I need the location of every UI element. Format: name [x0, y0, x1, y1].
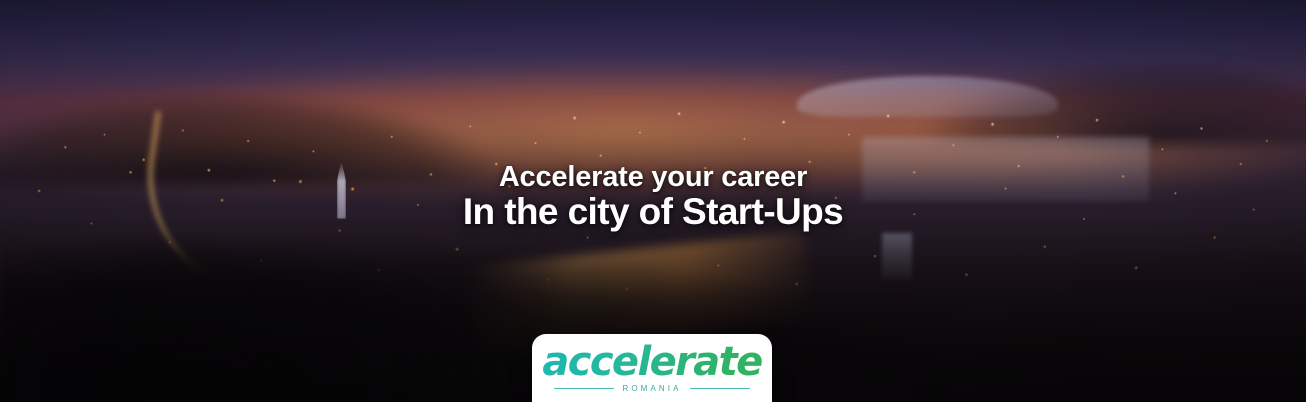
headline-line-1: Accelerate your career: [0, 162, 1306, 192]
hero-banner: Accelerate your career In the city of St…: [0, 0, 1306, 402]
accelerate-wordmark: accelerate: [542, 342, 761, 382]
logo-rule-right: [690, 388, 750, 389]
logo-rule-left: [554, 388, 614, 389]
headline-line-2: In the city of Start-Ups: [0, 193, 1306, 232]
logo-country-label: ROMANIA: [622, 384, 681, 393]
hero-headline: Accelerate your career In the city of St…: [0, 162, 1306, 232]
accelerate-romania-logo-card[interactable]: accelerate ROMANIA: [532, 334, 772, 402]
dark-foreground-left: [0, 233, 522, 402]
logo-subtitle-row: ROMANIA: [554, 384, 750, 393]
